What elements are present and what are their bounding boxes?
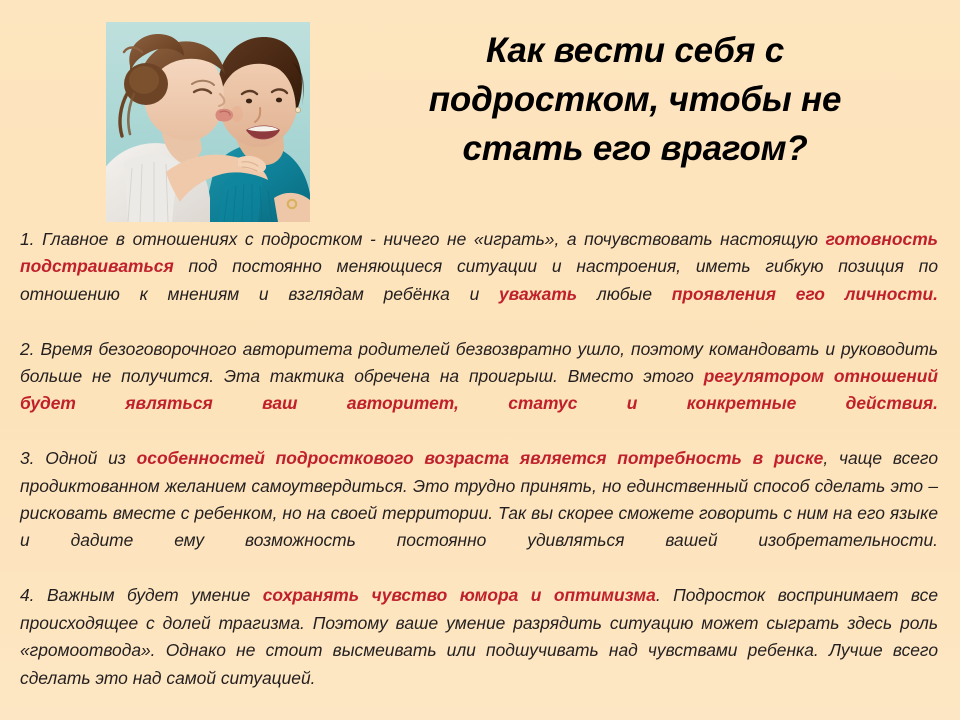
paragraph-3: 3. Одной из особенностей подросткового в… (20, 445, 938, 582)
title-line-2: подростком, чтобы не (345, 75, 925, 124)
title-line-3: стать его врагом? (345, 124, 925, 173)
highlighted-phrase: регулятором отношений будет являться ваш… (20, 366, 938, 413)
paragraph-4: 4. Важным будет умение сохранять чувство… (20, 582, 938, 692)
title-line-1: Как вести себя с (345, 26, 925, 75)
slide-header: Как вести себя с подростком, чтобы не ст… (0, 0, 960, 222)
highlighted-phrase: уважать (499, 284, 577, 304)
body-content: 1. Главное в отношениях с подростком - н… (20, 226, 938, 692)
highlighted-phrase: особенностей подросткового возраста явля… (137, 448, 824, 468)
paragraph-1: 1. Главное в отношениях с подростком - н… (20, 226, 938, 336)
highlighted-phrase: проявления его личности. (672, 284, 938, 304)
page-title: Как вести себя с подростком, чтобы не ст… (345, 26, 925, 173)
slide-root: Как вести себя с подростком, чтобы не ст… (0, 0, 960, 720)
highlighted-phrase: готовность подстраиваться (20, 229, 938, 276)
highlighted-phrase: сохранять чувство юмора и оптимизма (263, 585, 656, 605)
paragraph-2: 2. Время безоговорочного авторитета роди… (20, 336, 938, 446)
teen-kissing-mother-photo (106, 22, 310, 222)
photo-illustration (106, 22, 310, 222)
